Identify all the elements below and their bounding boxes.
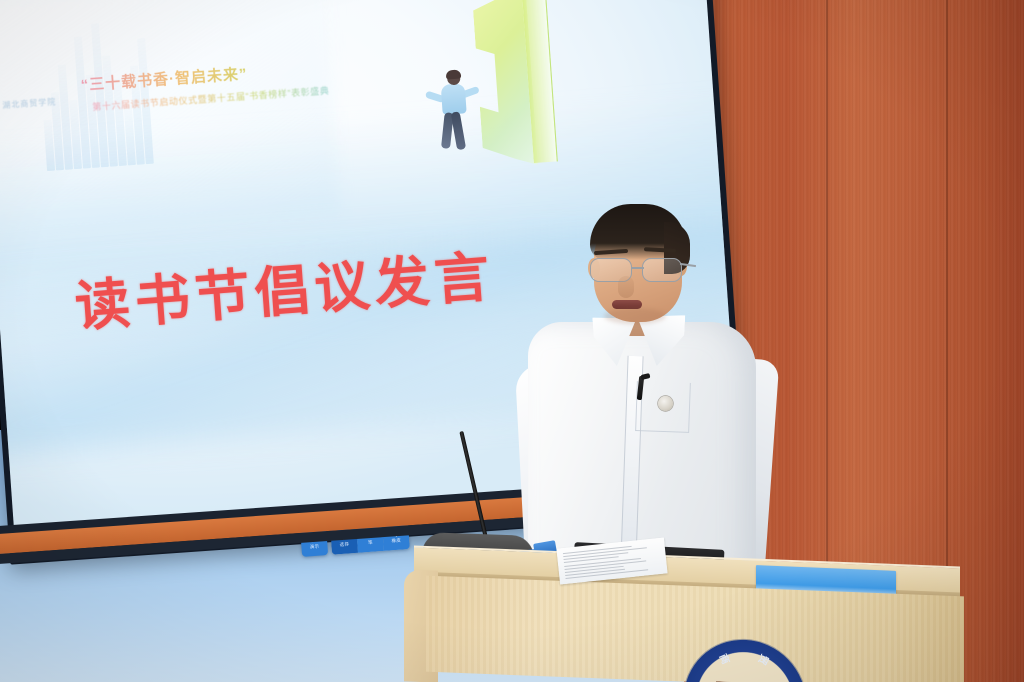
lapel-badge xyxy=(658,396,673,411)
slide-institution-mark: 湖北商贸学院 xyxy=(2,95,70,134)
speaker-chin-shadow xyxy=(604,308,666,324)
slide-bar-motif xyxy=(37,0,382,171)
emblem-ring-text: 湖北商贸学院 xyxy=(684,638,806,682)
slide-book-graphic xyxy=(472,0,562,169)
glasses-icon xyxy=(586,258,692,284)
speaker-person xyxy=(520,196,770,596)
auditorium-photo-scene: 湖北商贸学院 “三十载书香·智启未来” 第十六届读书节启动仪式暨第十五届“书香榜… xyxy=(0,0,1024,682)
podium: 湖北商贸学院 xyxy=(404,556,964,682)
university-emblem: 湖北商贸学院 xyxy=(684,638,806,682)
slide-person-illustration xyxy=(429,71,481,166)
speaker-nose xyxy=(618,276,634,298)
